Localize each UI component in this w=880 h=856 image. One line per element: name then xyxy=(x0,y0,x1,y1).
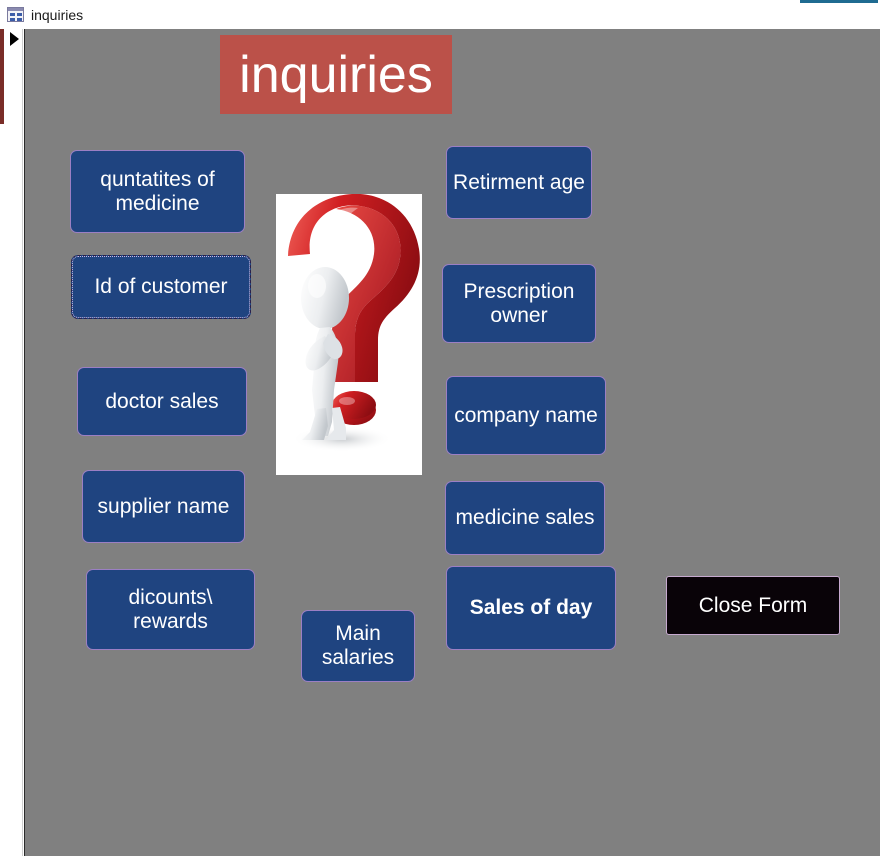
button-quantities-of-medicine[interactable]: quntatites of medicine xyxy=(70,150,245,233)
tab-label: inquiries xyxy=(31,7,83,23)
button-medicine-sales[interactable]: medicine sales xyxy=(445,481,605,555)
button-label: quntatites of medicine xyxy=(74,168,241,215)
button-discounts-rewards[interactable]: dicounts\ rewards xyxy=(86,569,255,650)
button-label: Id of customer xyxy=(94,275,227,299)
button-label: company name xyxy=(454,404,598,428)
tab-inquiries[interactable]: inquiries xyxy=(0,0,93,29)
button-prescription-owner[interactable]: Prescription owner xyxy=(442,264,596,343)
top-accent-bar xyxy=(800,0,878,3)
button-label: dicounts\ rewards xyxy=(90,586,251,633)
button-label: supplier name xyxy=(98,495,230,519)
record-selector-arrow-icon[interactable] xyxy=(10,32,19,46)
form-title-banner: inquiries xyxy=(220,35,452,114)
access-form-icon xyxy=(7,7,24,22)
button-label: doctor sales xyxy=(105,390,218,414)
button-sales-of-day[interactable]: Sales of day xyxy=(446,566,616,650)
button-label: Retirment age xyxy=(453,171,585,195)
button-label: Prescription owner xyxy=(446,280,592,327)
button-doctor-sales[interactable]: doctor sales xyxy=(77,367,247,436)
button-label: Close Form xyxy=(699,594,808,618)
button-id-of-customer[interactable]: Id of customer xyxy=(71,255,251,319)
button-retirement-age[interactable]: Retirment age xyxy=(446,146,592,219)
button-close-form[interactable]: Close Form xyxy=(666,576,840,635)
tab-strip: inquiries xyxy=(0,0,880,29)
button-label: Main salaries xyxy=(305,622,411,669)
button-supplier-name[interactable]: supplier name xyxy=(82,470,245,543)
form-canvas: inquiries quntatites of medicine Id of c… xyxy=(24,29,880,856)
button-company-name[interactable]: company name xyxy=(446,376,606,455)
record-selector-gutter[interactable] xyxy=(4,29,23,856)
button-label: medicine sales xyxy=(456,506,595,530)
page-title: inquiries xyxy=(239,49,433,101)
button-main-salaries[interactable]: Main salaries xyxy=(301,610,415,682)
question-mark-figure-image xyxy=(276,194,422,475)
button-label: Sales of day xyxy=(470,596,593,620)
